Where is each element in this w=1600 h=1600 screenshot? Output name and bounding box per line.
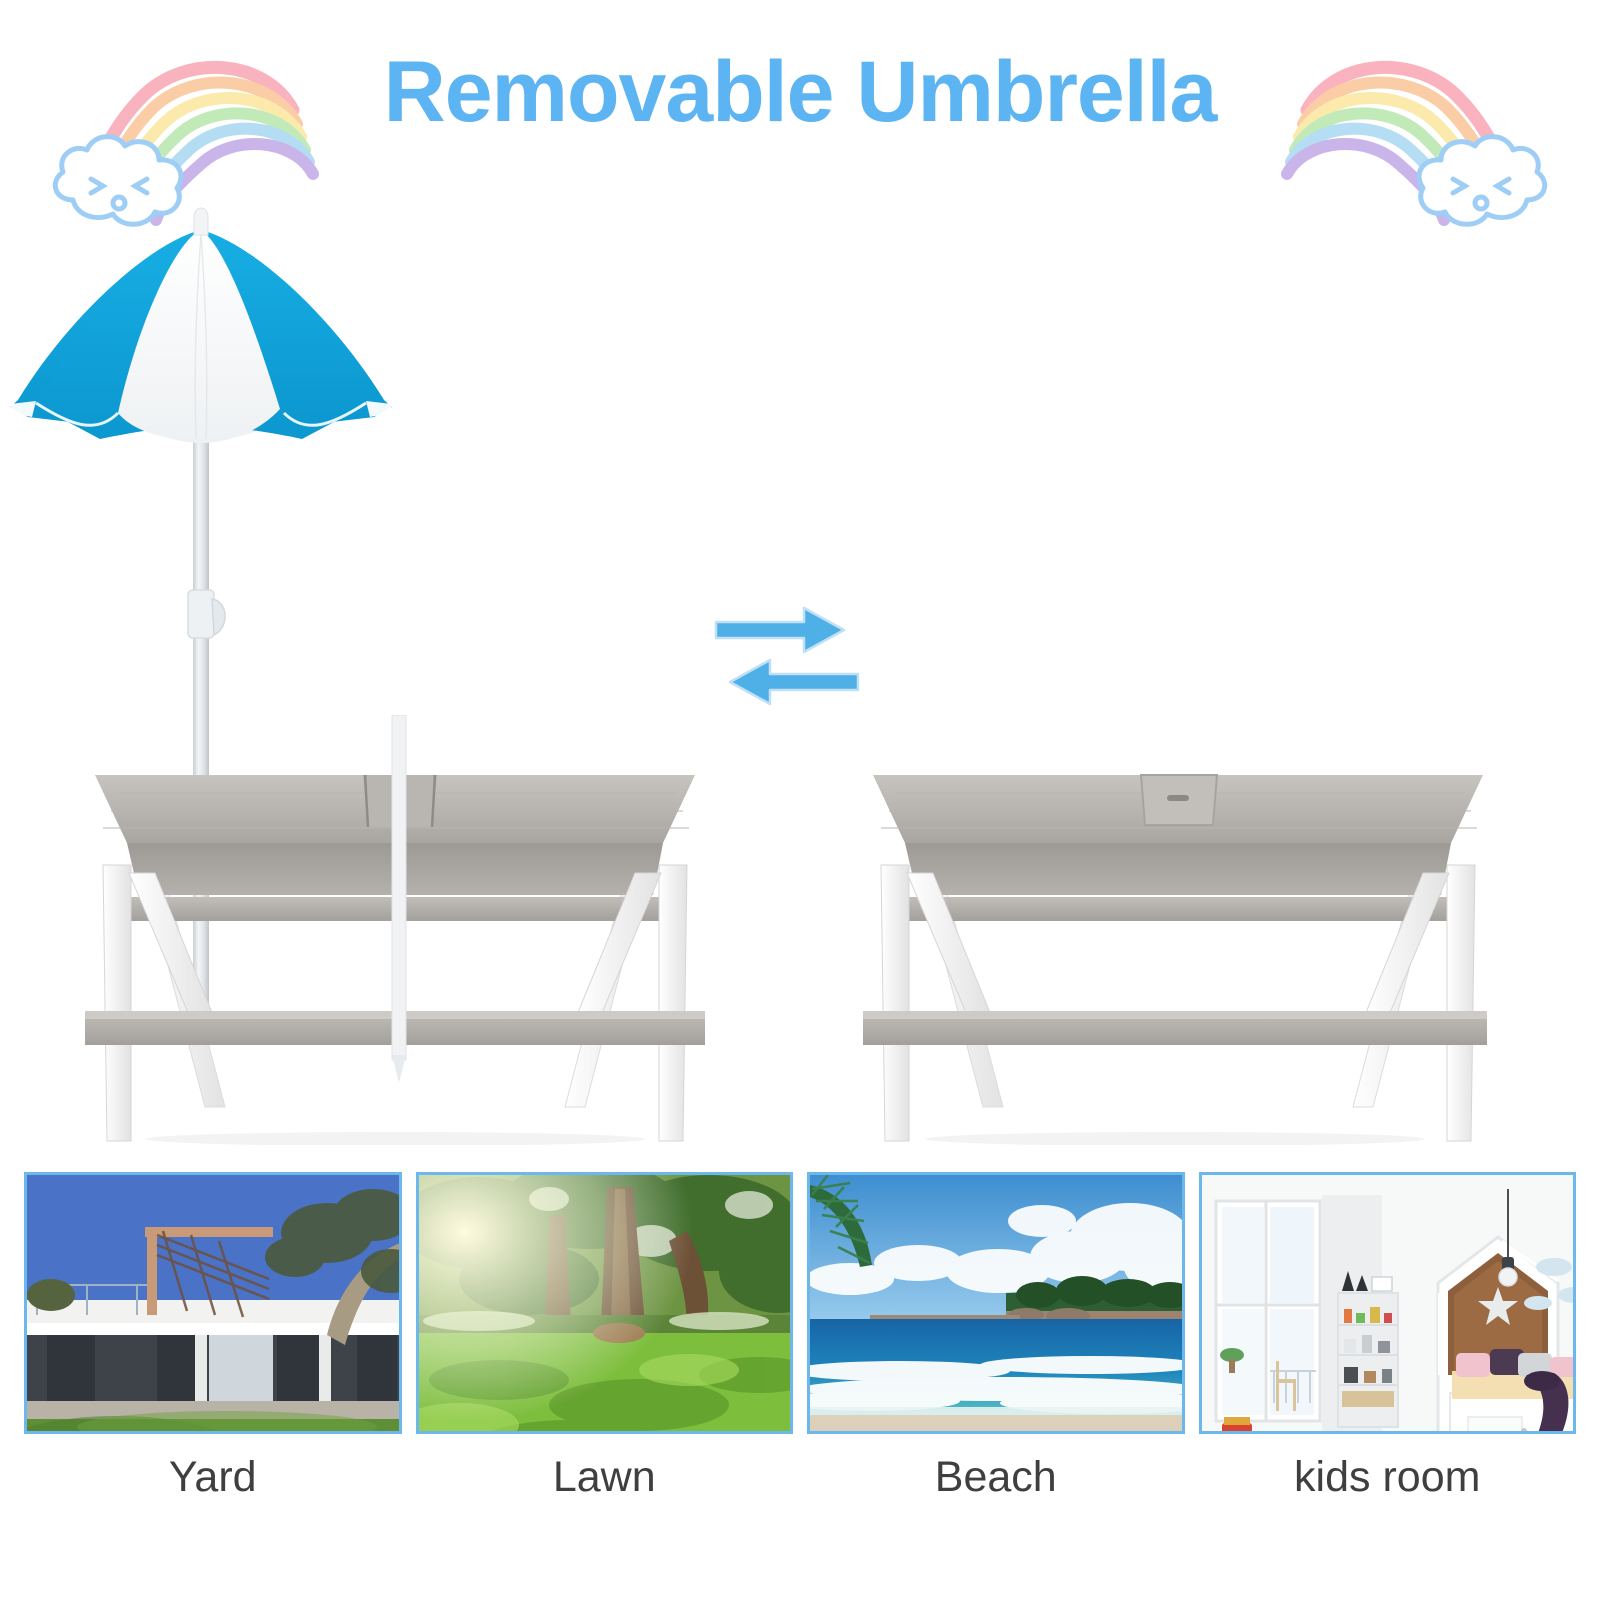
toy-box	[1222, 1417, 1252, 1434]
table-top	[873, 775, 1483, 843]
scene-kids-room: kids room	[1199, 1172, 1577, 1502]
arrow-left-icon	[730, 660, 858, 704]
bench-front	[863, 1011, 1487, 1045]
scene-label: Lawn	[416, 1452, 794, 1502]
scene-label: kids room	[1199, 1452, 1577, 1502]
scene-kids-room-photo	[1199, 1172, 1577, 1434]
scene-label: Beach	[807, 1452, 1185, 1502]
scene-yard-photo	[24, 1172, 402, 1434]
scene-label: Yard	[24, 1452, 402, 1502]
umbrella-finial	[194, 208, 208, 235]
rainbow-cloud-decoration-right	[1265, 40, 1565, 255]
scene-beach: Beach	[807, 1172, 1185, 1502]
window	[1216, 1201, 1320, 1421]
bench-rear	[903, 897, 1453, 921]
scene-beach-photo	[807, 1172, 1185, 1434]
picnic-table-with-umbrella	[85, 715, 705, 1145]
umbrella-pole-lower	[392, 715, 406, 1083]
usage-scenes-strip: Yard	[0, 1172, 1600, 1502]
scene-yard: Yard	[24, 1172, 402, 1502]
shelf-unit	[1338, 1271, 1398, 1427]
scene-lawn-photo	[416, 1172, 794, 1434]
umbrella-tilt-lock	[188, 590, 225, 638]
table-apron	[905, 843, 1451, 895]
picnic-table-without-umbrella	[855, 715, 1495, 1145]
umbrella-canopy	[10, 230, 392, 443]
bed	[1450, 1349, 1577, 1434]
arrow-right-icon	[716, 608, 844, 652]
umbrella-hole-cover	[1141, 775, 1217, 825]
scene-lawn: Lawn	[416, 1172, 794, 1502]
swap-arrows	[712, 600, 862, 715]
